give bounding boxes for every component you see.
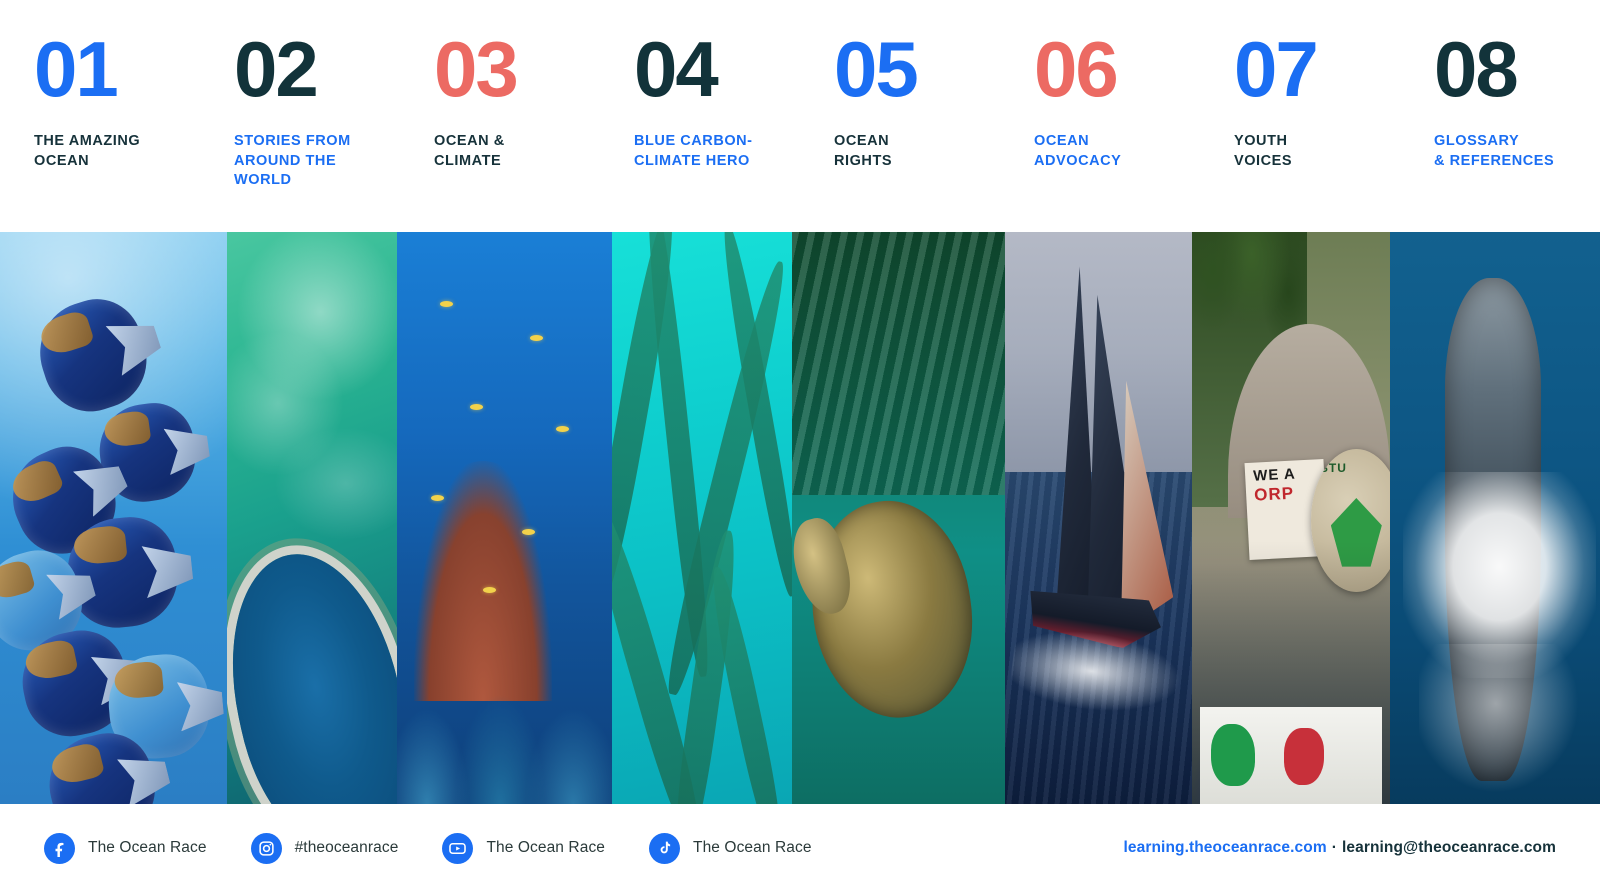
learning-website-link[interactable]: learning.theoceanrace.com bbox=[1123, 839, 1326, 856]
section-card-03[interactable]: 03 OCEAN & CLIMATE bbox=[400, 0, 600, 232]
section-number-04: 04 bbox=[634, 30, 800, 108]
youtube-handle: The Ocean Race bbox=[486, 839, 605, 857]
youth-protest-artwork: WE A ORP STU bbox=[1192, 232, 1390, 804]
strip-image-ocean-race-yacht[interactable] bbox=[1005, 232, 1192, 804]
youtube-icon[interactable] bbox=[442, 833, 473, 864]
section-title-05: OCEAN RIGHTS bbox=[834, 132, 986, 171]
section-card-08[interactable]: 08 GLOSSARY & REFERENCES bbox=[1400, 0, 1600, 232]
social-link-instagram[interactable]: #theoceanrace bbox=[251, 833, 399, 864]
humpback-whale-artwork bbox=[1390, 232, 1600, 804]
surgeonfish-artwork bbox=[0, 232, 227, 804]
contact-info: learning.theoceanrace.com·learning@theoc… bbox=[1123, 839, 1600, 857]
section-title-02: STORIES FROM AROUND THE WORLD bbox=[234, 132, 386, 191]
tiktok-handle: The Ocean Race bbox=[693, 839, 812, 857]
section-card-05[interactable]: 05 OCEAN RIGHTS bbox=[800, 0, 1000, 232]
strip-image-coral-reef[interactable] bbox=[397, 232, 612, 804]
section-number-01: 01 bbox=[34, 30, 200, 108]
coral-reef-artwork bbox=[397, 232, 612, 804]
social-links: The Ocean Race #theoceanrace bbox=[0, 833, 856, 864]
section-number-05: 05 bbox=[834, 30, 1000, 108]
section-number-07: 07 bbox=[1234, 30, 1400, 108]
strip-image-sea-turtle-over-reef[interactable] bbox=[792, 232, 1005, 804]
atoll-artwork bbox=[227, 232, 397, 804]
footer: The Ocean Race #theoceanrace bbox=[0, 804, 1600, 892]
section-card-04[interactable]: 04 BLUE CARBON- CLIMATE HERO bbox=[600, 0, 800, 232]
section-image-strip: WE A ORP STU bbox=[0, 232, 1600, 804]
facebook-icon[interactable] bbox=[44, 833, 75, 864]
section-number-03: 03 bbox=[434, 30, 600, 108]
learning-email-link[interactable]: learning@theoceanrace.com bbox=[1342, 839, 1556, 856]
section-card-01[interactable]: 01 THE AMAZING OCEAN bbox=[0, 0, 200, 232]
sea-turtle-artwork bbox=[792, 232, 1005, 804]
social-link-facebook[interactable]: The Ocean Race bbox=[44, 833, 207, 864]
section-title-04: BLUE CARBON- CLIMATE HERO bbox=[634, 132, 786, 171]
section-card-07[interactable]: 07 YOUTH VOICES bbox=[1200, 0, 1400, 232]
protest-placard-line-1: WE A bbox=[1253, 465, 1325, 484]
section-title-01: THE AMAZING OCEAN bbox=[34, 132, 186, 171]
social-link-youtube[interactable]: The Ocean Race bbox=[442, 833, 605, 864]
section-title-07: YOUTH VOICES bbox=[1234, 132, 1386, 171]
strip-image-aerial-atoll-lagoon[interactable] bbox=[227, 232, 397, 804]
section-title-03: OCEAN & CLIMATE bbox=[434, 132, 586, 171]
ocean-race-yacht-artwork bbox=[1005, 232, 1192, 804]
section-card-02[interactable]: 02 STORIES FROM AROUND THE WORLD bbox=[200, 0, 400, 232]
section-number-02: 02 bbox=[234, 30, 400, 108]
section-card-06[interactable]: 06 OCEAN ADVOCACY bbox=[1000, 0, 1200, 232]
strip-image-humpback-whale[interactable] bbox=[1390, 232, 1600, 804]
section-number-08: 08 bbox=[1434, 30, 1600, 108]
facebook-handle: The Ocean Race bbox=[88, 839, 207, 857]
instagram-icon[interactable] bbox=[251, 833, 282, 864]
contact-separator: · bbox=[1332, 839, 1337, 856]
instagram-handle: #theoceanrace bbox=[295, 839, 399, 857]
strip-image-youth-climate-protest[interactable]: WE A ORP STU bbox=[1192, 232, 1390, 804]
section-title-08: GLOSSARY & REFERENCES bbox=[1434, 132, 1586, 171]
strip-image-school-of-surgeonfish[interactable] bbox=[0, 232, 227, 804]
section-title-06: OCEAN ADVOCACY bbox=[1034, 132, 1186, 171]
strip-image-kelp-forest[interactable] bbox=[612, 232, 792, 804]
kelp-forest-artwork bbox=[612, 232, 792, 804]
section-index-header: 01 THE AMAZING OCEAN 02 STORIES FROM ARO… bbox=[0, 0, 1600, 232]
section-number-06: 06 bbox=[1034, 30, 1200, 108]
protest-round-sign-text: STU bbox=[1320, 461, 1347, 475]
tiktok-icon[interactable] bbox=[649, 833, 680, 864]
contents-page: 01 THE AMAZING OCEAN 02 STORIES FROM ARO… bbox=[0, 0, 1600, 892]
social-link-tiktok[interactable]: The Ocean Race bbox=[649, 833, 812, 864]
